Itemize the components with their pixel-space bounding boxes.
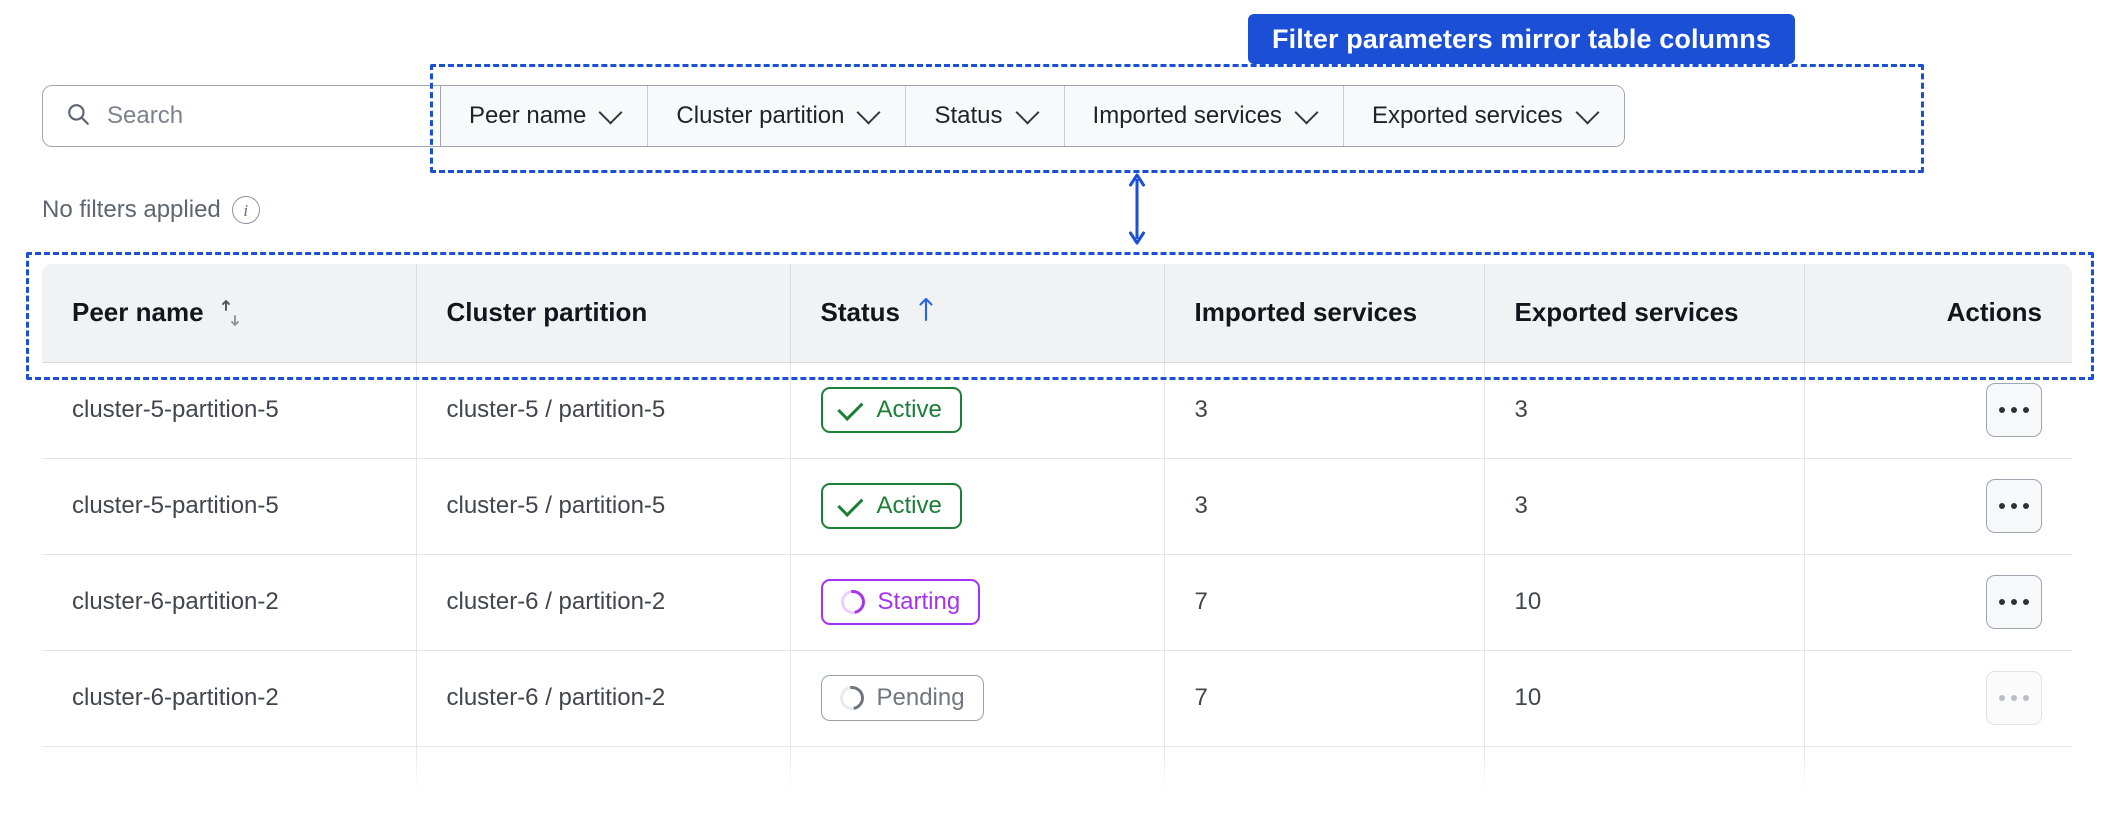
chevron-down-icon: [1015, 100, 1039, 124]
more-horizontal-icon[interactable]: [1986, 383, 2042, 437]
column-header-status[interactable]: Status: [790, 264, 1164, 362]
link-arrow-filters-to-columns: [1125, 171, 1149, 247]
annotation-banner: Filter parameters mirror table columns: [1248, 14, 1795, 64]
chevron-down-icon: [599, 100, 623, 124]
cell-exported-services: [1484, 746, 1804, 804]
cell-imported-services: [1164, 746, 1484, 804]
cell-actions: [1804, 458, 2072, 554]
sort-ascending-descending-icon: [220, 298, 242, 328]
chevron-down-icon: [1294, 100, 1318, 124]
cell-peer-name: cluster-5-partition-5: [42, 458, 416, 554]
cell-peer-name: cluster-5-partition-5: [42, 362, 416, 458]
table-row[interactable]: [42, 746, 2072, 804]
cell-actions: [1804, 362, 2072, 458]
filter-pill-imported-services[interactable]: Imported services: [1065, 86, 1344, 146]
table-row[interactable]: cluster-5-partition-5 cluster-5 / partit…: [42, 458, 2072, 554]
filter-pill-imported-services-label: Imported services: [1093, 102, 1282, 130]
filter-pill-peer-name-label: Peer name: [469, 102, 586, 130]
check-icon: [837, 491, 863, 517]
cell-exported-services: 10: [1484, 650, 1804, 746]
chevron-down-icon: [1575, 100, 1599, 124]
cell-status: Active: [790, 362, 1164, 458]
status-badge-label: Active: [877, 492, 942, 520]
column-header-actions: Actions: [1804, 264, 2072, 362]
filter-pill-exported-services-label: Exported services: [1372, 102, 1563, 130]
peers-table: Peer name Cluster partition: [42, 264, 2072, 804]
annotation-banner-label: Filter parameters mirror table columns: [1272, 24, 1771, 55]
filter-pill-status[interactable]: Status: [906, 86, 1064, 146]
cell-actions: [1804, 554, 2072, 650]
chevron-down-icon: [857, 100, 881, 124]
search-icon: [65, 101, 91, 132]
peers-table-container: Peer name Cluster partition: [42, 264, 2072, 804]
search-placeholder-text: Search: [107, 102, 183, 130]
column-header-exported-services-label: Exported services: [1515, 297, 1739, 328]
status-badge: Active: [821, 483, 962, 529]
arrow-up-icon: [916, 295, 936, 330]
cell-cluster-partition: cluster-5 / partition-5: [416, 458, 790, 554]
cell-cluster-partition: cluster-6 / partition-2: [416, 554, 790, 650]
table-header-row: Peer name Cluster partition: [42, 264, 2072, 362]
status-badge-label: Pending: [877, 684, 965, 712]
cell-exported-services: 3: [1484, 458, 1804, 554]
column-header-status-label: Status: [821, 297, 900, 328]
column-header-imported-services-label: Imported services: [1195, 297, 1418, 328]
cell-actions: [1804, 650, 2072, 746]
filter-toolbar: Search Peer name Cluster partition Statu…: [42, 85, 1625, 147]
spinner-icon: [835, 681, 868, 714]
search-input[interactable]: Search: [42, 85, 440, 147]
column-header-cluster-partition[interactable]: Cluster partition: [416, 264, 790, 362]
filter-pill-exported-services[interactable]: Exported services: [1344, 86, 1624, 146]
column-header-peer-name[interactable]: Peer name: [42, 264, 416, 362]
table-row[interactable]: cluster-5-partition-5 cluster-5 / partit…: [42, 362, 2072, 458]
cell-imported-services: 3: [1164, 458, 1484, 554]
more-horizontal-icon[interactable]: [1986, 671, 2042, 725]
filter-pill-status-label: Status: [934, 102, 1002, 130]
filters-status-label: No filters applied: [42, 196, 221, 224]
status-badge: Active: [821, 387, 962, 433]
cell-peer-name: [42, 746, 416, 804]
info-icon[interactable]: i: [232, 196, 260, 224]
check-icon: [837, 395, 863, 421]
column-header-cluster-partition-label: Cluster partition: [447, 297, 648, 328]
cell-imported-services: 3: [1164, 362, 1484, 458]
cell-exported-services: 3: [1484, 362, 1804, 458]
column-header-exported-services[interactable]: Exported services: [1484, 264, 1804, 362]
spinner-icon: [836, 585, 869, 618]
column-header-peer-name-label: Peer name: [72, 297, 204, 328]
cell-peer-name: cluster-6-partition-2: [42, 650, 416, 746]
cell-status: [790, 746, 1164, 804]
status-badge: Starting: [821, 579, 981, 625]
column-header-imported-services[interactable]: Imported services: [1164, 264, 1484, 362]
cell-imported-services: 7: [1164, 650, 1484, 746]
cell-status: Starting: [790, 554, 1164, 650]
table-row[interactable]: cluster-6-partition-2 cluster-6 / partit…: [42, 554, 2072, 650]
cell-cluster-partition: cluster-5 / partition-5: [416, 362, 790, 458]
cell-peer-name: cluster-6-partition-2: [42, 554, 416, 650]
filter-pill-peer-name[interactable]: Peer name: [441, 86, 648, 146]
status-badge-label: Active: [877, 396, 942, 424]
filter-pill-cluster-partition-label: Cluster partition: [676, 102, 844, 130]
more-horizontal-icon[interactable]: [1986, 479, 2042, 533]
status-badge-label: Starting: [878, 588, 961, 616]
cell-imported-services: 7: [1164, 554, 1484, 650]
cell-status: Active: [790, 458, 1164, 554]
filters-status: No filters applied i: [42, 196, 260, 224]
cell-exported-services: 10: [1484, 554, 1804, 650]
table-body: cluster-5-partition-5 cluster-5 / partit…: [42, 362, 2072, 804]
cell-actions: [1804, 746, 2072, 804]
cell-cluster-partition: [416, 746, 790, 804]
cell-cluster-partition: cluster-6 / partition-2: [416, 650, 790, 746]
table-header: Peer name Cluster partition: [42, 264, 2072, 362]
table-row[interactable]: cluster-6-partition-2 cluster-6 / partit…: [42, 650, 2072, 746]
status-badge: Pending: [821, 675, 984, 721]
column-header-actions-label: Actions: [1947, 297, 2042, 328]
filter-pill-group: Peer name Cluster partition Status Impor…: [440, 85, 1625, 147]
more-horizontal-icon[interactable]: [1986, 575, 2042, 629]
cell-status: Pending: [790, 650, 1164, 746]
filter-pill-cluster-partition[interactable]: Cluster partition: [648, 86, 906, 146]
